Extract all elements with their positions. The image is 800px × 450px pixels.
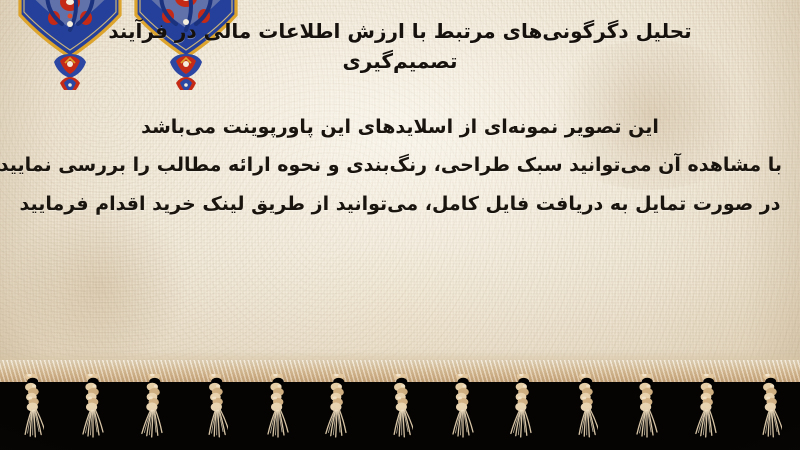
slide-title: تحلیل دگرگونی‌های مرتبط با ارزش اطلاعات …	[0, 16, 800, 77]
fringe-tassel	[633, 374, 659, 446]
title-line-2: تصمیم‌گیری	[24, 46, 776, 76]
fringe-tassel	[325, 374, 351, 446]
slide-body: این تصویر نمونه‌ای از اسلایدهای این پاور…	[0, 108, 800, 223]
body-line-3: در صورت تمایل به دریافت فایل کامل، می‌تو…	[18, 185, 782, 223]
fringe-tassel	[510, 374, 536, 446]
fringe-tassel	[572, 374, 598, 446]
fringe-tassel	[141, 374, 167, 446]
fringe-tassel	[695, 374, 721, 446]
fringe-tassel	[449, 374, 475, 446]
fringe-tassel	[264, 374, 290, 446]
fringe-tassel	[387, 374, 413, 446]
fringe-tassel	[79, 374, 105, 446]
carpet-fringe	[0, 360, 800, 450]
body-line-2: با مشاهده آن می‌توانید سبک طراحی، رنگ‌بن…	[18, 146, 782, 184]
slide-canvas: تحلیل دگرگونی‌های مرتبط با ارزش اطلاعات …	[0, 0, 800, 450]
fringe-tassel	[18, 374, 44, 446]
fringe-tassel	[202, 374, 228, 446]
title-line-1: تحلیل دگرگونی‌های مرتبط با ارزش اطلاعات …	[24, 16, 776, 46]
body-line-1: این تصویر نمونه‌ای از اسلایدهای این پاور…	[18, 108, 782, 146]
fringe-tassel	[756, 374, 782, 446]
